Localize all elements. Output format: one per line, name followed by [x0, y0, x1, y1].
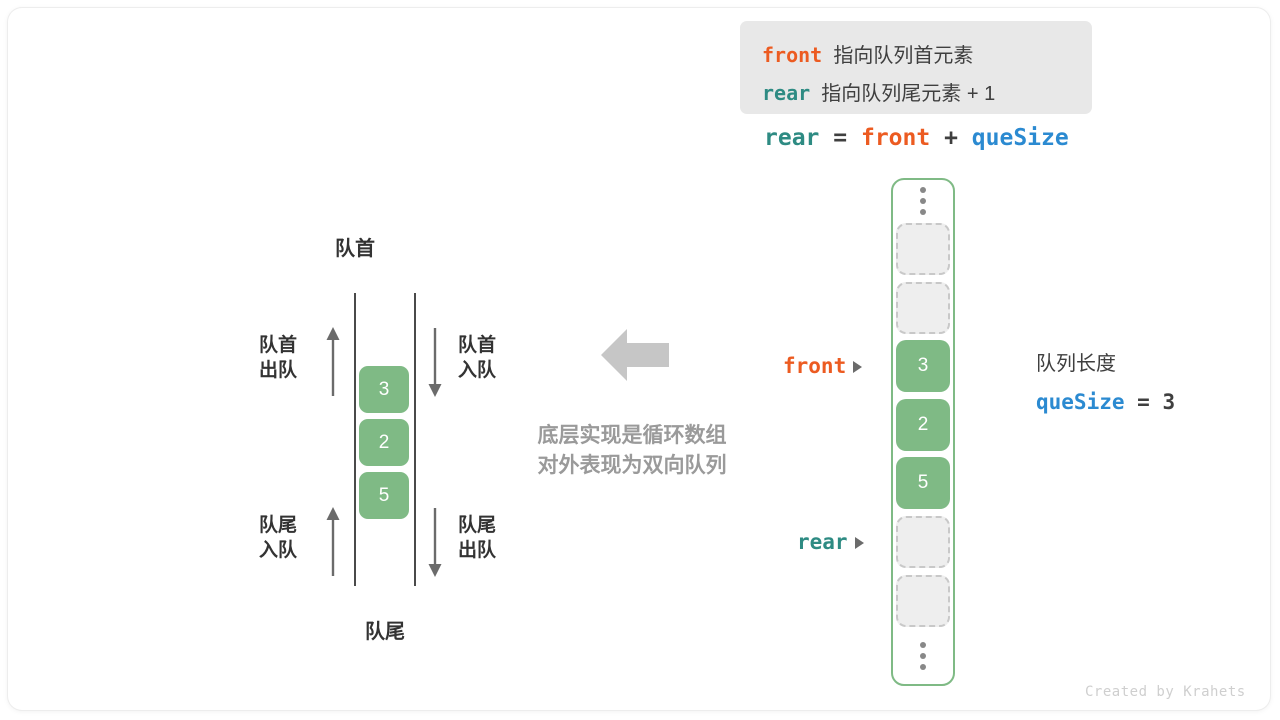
rear-pop-label-line1: 队尾	[458, 513, 496, 538]
front-pop-label-line2: 出队	[259, 358, 297, 383]
deque-rail-left	[354, 293, 356, 586]
rear-description: 指向队列尾元素 + 1	[821, 83, 995, 105]
dot	[920, 653, 926, 659]
array-cell-filled: 3	[896, 340, 950, 392]
front-push-label-line2: 入队	[458, 358, 496, 383]
array-cell-empty	[896, 575, 950, 627]
front-term: front	[762, 43, 822, 67]
formula-operand-front: front	[861, 125, 930, 151]
deque-rail-right	[414, 293, 416, 586]
rear-push-label-line2: 入队	[259, 538, 297, 563]
note-line-front: front 指向队列首元素	[762, 45, 973, 66]
front-push-label: 队首 入队	[458, 333, 496, 383]
rear-formula: rear = front + queSize	[764, 127, 1069, 150]
rear-push-label-line1: 队尾	[259, 513, 297, 538]
rear-push-label: 队尾 入队	[259, 513, 297, 563]
dot	[920, 187, 926, 193]
pointer-triangle-icon	[853, 361, 862, 373]
front-pop-label-line1: 队首	[259, 333, 297, 358]
rear-pointer-label: rear	[797, 532, 848, 553]
quesize-var: queSize	[1036, 390, 1125, 414]
array-cell-empty	[896, 282, 950, 334]
pointer-triangle-icon	[855, 537, 864, 549]
front-pointer-label: front	[783, 356, 846, 377]
array-cell-filled: 5	[896, 457, 950, 509]
rear-push-up-arrow-icon	[320, 506, 346, 578]
left-pointing-block-arrow-icon	[601, 326, 669, 384]
implementation-note-line1: 底层实现是循环数组	[538, 421, 727, 451]
deque-cell: 2	[359, 419, 409, 466]
diagram-canvas: front 指向队列首元素 rear 指向队列尾元素 + 1 rear = fr…	[8, 8, 1270, 710]
front-description: 指向队列首元素	[833, 45, 973, 67]
dot	[920, 642, 926, 648]
implementation-note: 底层实现是循环数组 对外表现为双向队列	[538, 421, 727, 482]
array-ellipsis-bottom-icon	[920, 642, 926, 670]
dot	[920, 198, 926, 204]
quesize-equals: =	[1137, 390, 1150, 414]
front-pointer: front	[783, 356, 862, 377]
implementation-note-line2: 对外表现为双向队列	[538, 451, 727, 481]
credit-text: Created by Krahets	[1085, 684, 1246, 700]
deque-cell: 3	[359, 366, 409, 413]
deque-bottom-label: 队尾	[365, 620, 405, 645]
rear-pop-label: 队尾 出队	[458, 513, 496, 563]
quesize-value: 3	[1162, 390, 1175, 414]
queue-size-caption: 队列长度	[1036, 349, 1175, 379]
front-pop-up-arrow-icon	[320, 326, 346, 398]
note-line-rear: rear 指向队列尾元素 + 1	[762, 83, 995, 104]
array-ellipsis-top-icon	[920, 187, 926, 215]
array-cell-empty	[896, 516, 950, 568]
dot	[920, 209, 926, 215]
rear-pointer: rear	[797, 532, 864, 553]
queue-size-block: 队列长度 queSize = 3	[1036, 349, 1175, 419]
formula-lhs: rear	[764, 125, 819, 151]
deque-cell: 5	[359, 472, 409, 519]
front-push-label-line1: 队首	[458, 333, 496, 358]
array-cell-filled: 2	[896, 399, 950, 451]
dot	[920, 664, 926, 670]
formula-equals: =	[833, 125, 847, 151]
queue-size-expression: queSize = 3	[1036, 387, 1175, 419]
front-push-down-arrow-icon	[422, 326, 448, 398]
rear-pop-label-line2: 出队	[458, 538, 496, 563]
formula-plus: +	[944, 125, 958, 151]
front-pop-label: 队首 出队	[259, 333, 297, 383]
rear-pop-down-arrow-icon	[422, 506, 448, 578]
pointer-definition-note: front 指向队列首元素 rear 指向队列尾元素 + 1	[740, 21, 1092, 114]
rear-term: rear	[762, 81, 810, 105]
array-cell-empty	[896, 223, 950, 275]
deque-top-label: 队首	[335, 237, 375, 262]
formula-operand-quesize: queSize	[972, 125, 1069, 151]
